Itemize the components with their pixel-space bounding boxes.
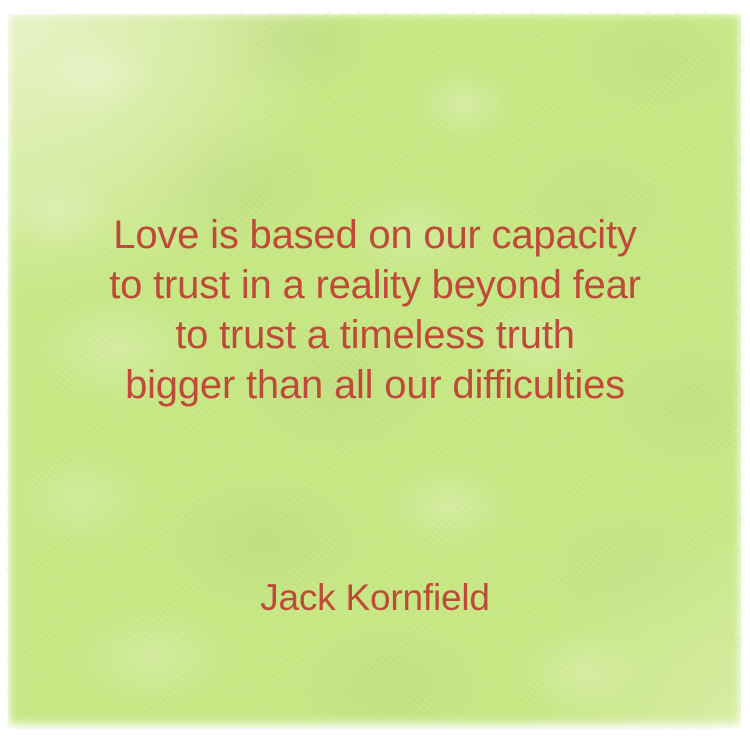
quote-author: Jack Kornfield — [0, 576, 750, 620]
quote-line-1: Love is based on our capacity — [0, 210, 750, 260]
quote-text-block: Love is based on our capacity to trust i… — [0, 210, 750, 410]
torn-edge-bottom — [0, 731, 750, 750]
quote-card-canvas: Love is based on our capacity to trust i… — [0, 0, 750, 750]
quote-line-3: to trust a timeless truth — [0, 310, 750, 360]
quote-line-2: to trust in a reality beyond fear — [0, 260, 750, 310]
quote-line-4: bigger than all our difficulties — [0, 360, 750, 410]
